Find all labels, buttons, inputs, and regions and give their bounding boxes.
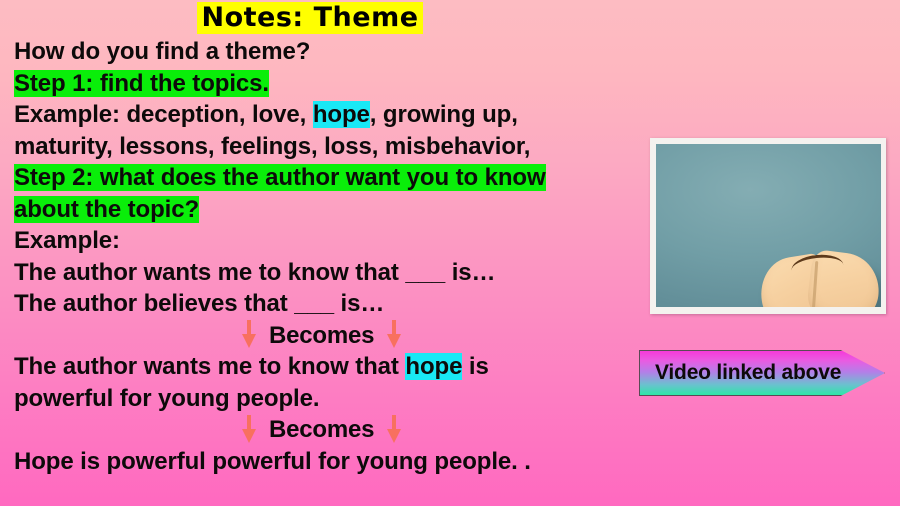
line-example-topics-2: maturity, lessons, feelings, loss, misbe… xyxy=(14,131,624,163)
line-sentence-frame-2: The author believes that ___ is… xyxy=(14,288,624,320)
line-step-2a: Step 2: what does the author want you to… xyxy=(14,162,624,194)
video-banner-label: Video linked above xyxy=(655,350,841,396)
result-1-suffix: is xyxy=(462,353,488,380)
becomes-row-1: Becomes xyxy=(14,320,624,352)
video-linked-banner[interactable]: Video linked above xyxy=(639,350,885,396)
example-topics-suffix: , growing up, xyxy=(370,101,518,128)
line-example-topics: Example: deception, love, hope, growing … xyxy=(14,99,624,131)
line-step-1: Step 1: find the topics. xyxy=(14,68,624,100)
step-2-text-line2: about the topic? xyxy=(14,196,199,223)
photo-image xyxy=(656,144,881,307)
line-sentence-frame-1: The author wants me to know that ___ is… xyxy=(14,257,624,289)
example-topics-prefix: Example: deception, love, xyxy=(14,101,313,128)
line-question: How do you find a theme? xyxy=(14,36,624,68)
fortune-cookie-icon xyxy=(761,245,881,307)
fortune-cookie-photo xyxy=(650,138,886,314)
arrow-down-icon xyxy=(242,415,256,445)
line-example-label: Example: xyxy=(14,225,624,257)
arrow-down-icon xyxy=(387,415,401,445)
step-2-text-line1: Step 2: what does the author want you to… xyxy=(14,164,546,191)
arrow-down-icon xyxy=(242,320,256,350)
result-1-prefix: The author wants me to know that xyxy=(14,353,405,380)
line-result-1: The author wants me to know that hope is xyxy=(14,351,624,383)
slide-canvas: Notes: Theme How do you find a theme? St… xyxy=(0,0,900,506)
slide-title: Notes: Theme xyxy=(0,2,620,34)
page-title: Notes: Theme xyxy=(197,2,422,34)
line-result-2: Hope is powerful powerful for young peop… xyxy=(14,446,624,478)
line-step-2b: about the topic? xyxy=(14,194,624,226)
line-result-1b: powerful for young people. xyxy=(14,383,624,415)
becomes-label-2: Becomes xyxy=(269,414,374,446)
topic-highlight-hope: hope xyxy=(313,101,370,128)
result-highlight-hope: hope xyxy=(405,353,462,380)
becomes-label-1: Becomes xyxy=(269,320,374,352)
notes-body: How do you find a theme? Step 1: find th… xyxy=(14,36,624,477)
step-1-text: Step 1: find the topics. xyxy=(14,70,269,97)
arrow-down-icon xyxy=(387,320,401,350)
becomes-row-2: Becomes xyxy=(14,414,624,446)
